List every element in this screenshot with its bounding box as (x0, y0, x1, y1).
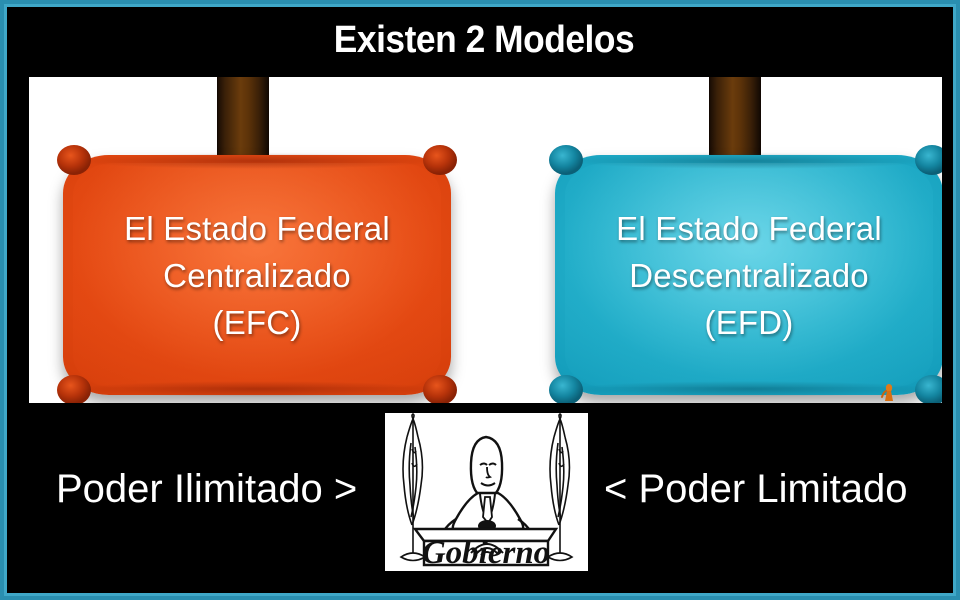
model-card-efd[interactable]: El Estado Federal Descentralizado (EFD) (555, 155, 942, 395)
efd-label-line2: Descentralizado (616, 252, 882, 299)
efd-label-line1: El Estado Federal (616, 205, 882, 252)
efc-rim-bottom (77, 381, 437, 397)
efc-nub-bottom-right (423, 375, 457, 403)
efd-nub-top-left (549, 145, 583, 175)
orange-figure-watermark-icon (876, 381, 902, 401)
efd-label: El Estado Federal Descentralizado (EFD) (602, 205, 896, 346)
efc-rim-top (77, 153, 437, 169)
model-card-efc[interactable]: El Estado Federal Centralizado (EFC) (63, 155, 451, 395)
efc-label-line3: (EFC) (124, 299, 390, 346)
gobierno-illustration-icon: Gobierno (385, 413, 588, 571)
efd-rim-bottom (569, 381, 929, 397)
efc-label-line2: Centralizado (124, 252, 390, 299)
efc-nub-top-right (423, 145, 457, 175)
efd-nub-bottom-left (549, 375, 583, 403)
page-title: Existen 2 Modelos (38, 18, 931, 62)
efc-nub-bottom-left (57, 375, 91, 403)
efd-nub-top-right (915, 145, 942, 175)
gobierno-caption: Gobierno (422, 535, 550, 571)
poder-ilimitado-label: Poder Ilimitado > (56, 466, 357, 512)
models-panel: El Estado Federal Centralizado (EFC) El … (29, 77, 942, 403)
efd-rim-top (569, 153, 929, 169)
efd-nub-bottom-right (915, 375, 942, 403)
efd-label-line3: (EFD) (616, 299, 882, 346)
poder-limitado-label: < Poder Limitado (604, 466, 908, 512)
slide-canvas: Existen 2 Modelos El Estado Federal Cent… (0, 0, 960, 600)
efc-label-line1: El Estado Federal (124, 205, 390, 252)
efc-nub-top-left (57, 145, 91, 175)
gobierno-cartoon: Gobierno (385, 413, 588, 571)
efc-label: El Estado Federal Centralizado (EFC) (110, 205, 404, 346)
